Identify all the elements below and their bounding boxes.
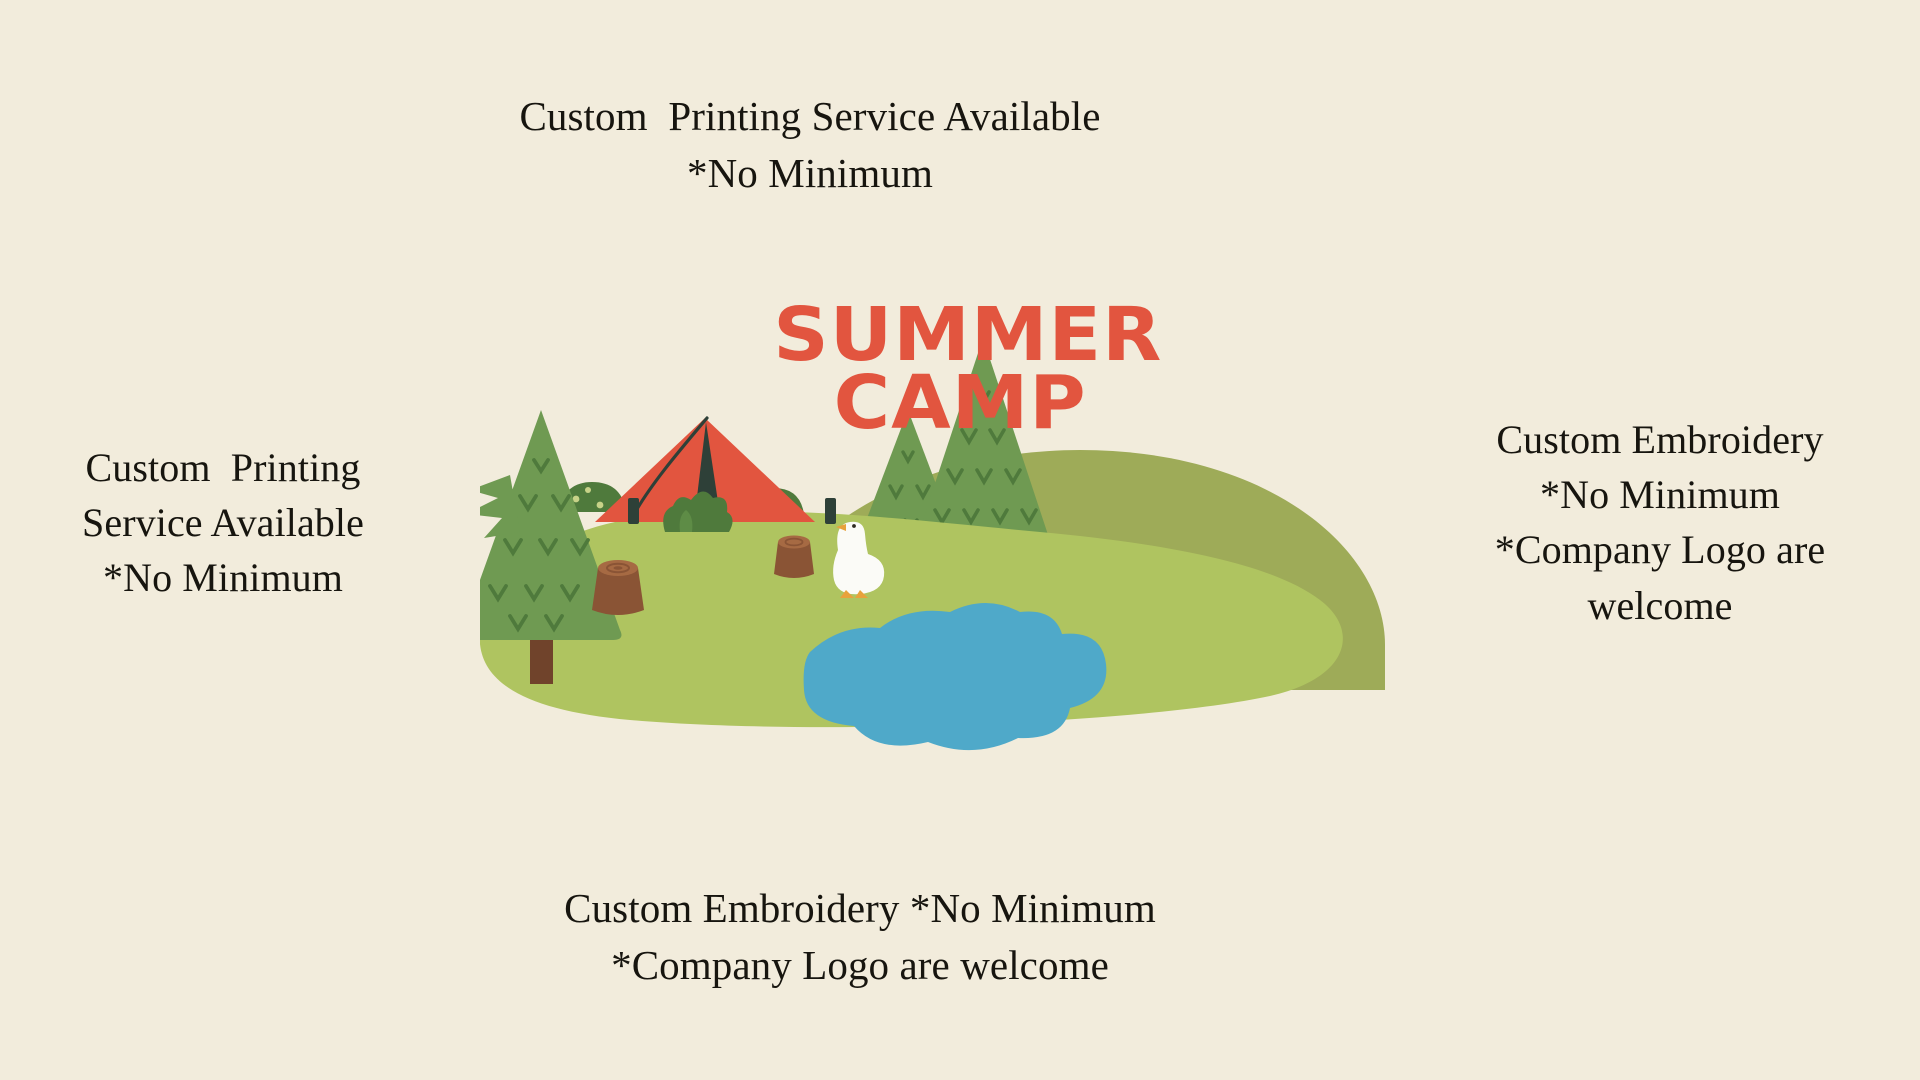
goose-eye	[852, 524, 856, 528]
tree-stump-right	[774, 536, 814, 579]
caption-bottom: Custom Embroidery *No Minimum *Company L…	[500, 880, 1220, 993]
caption-left: Custom Printing Service Available *No Mi…	[28, 440, 418, 606]
tent-stake-right	[825, 498, 836, 524]
caption-top: Custom Printing Service Available *No Mi…	[460, 88, 1160, 201]
foliage-tuft	[480, 475, 520, 538]
poster-canvas: Custom Printing Service Available *No Mi…	[0, 0, 1920, 1080]
tree-stump-left	[592, 560, 644, 615]
tent-stake-middle	[628, 498, 639, 524]
summer-camp-logo: SUMMER CAMP	[773, 300, 1162, 446]
summer-camp-illustration: SUMMER CAMP	[480, 300, 1460, 860]
caption-right: Custom Embroidery *No Minimum *Company L…	[1450, 412, 1870, 633]
logo-line-2: CAMP	[834, 359, 1087, 445]
